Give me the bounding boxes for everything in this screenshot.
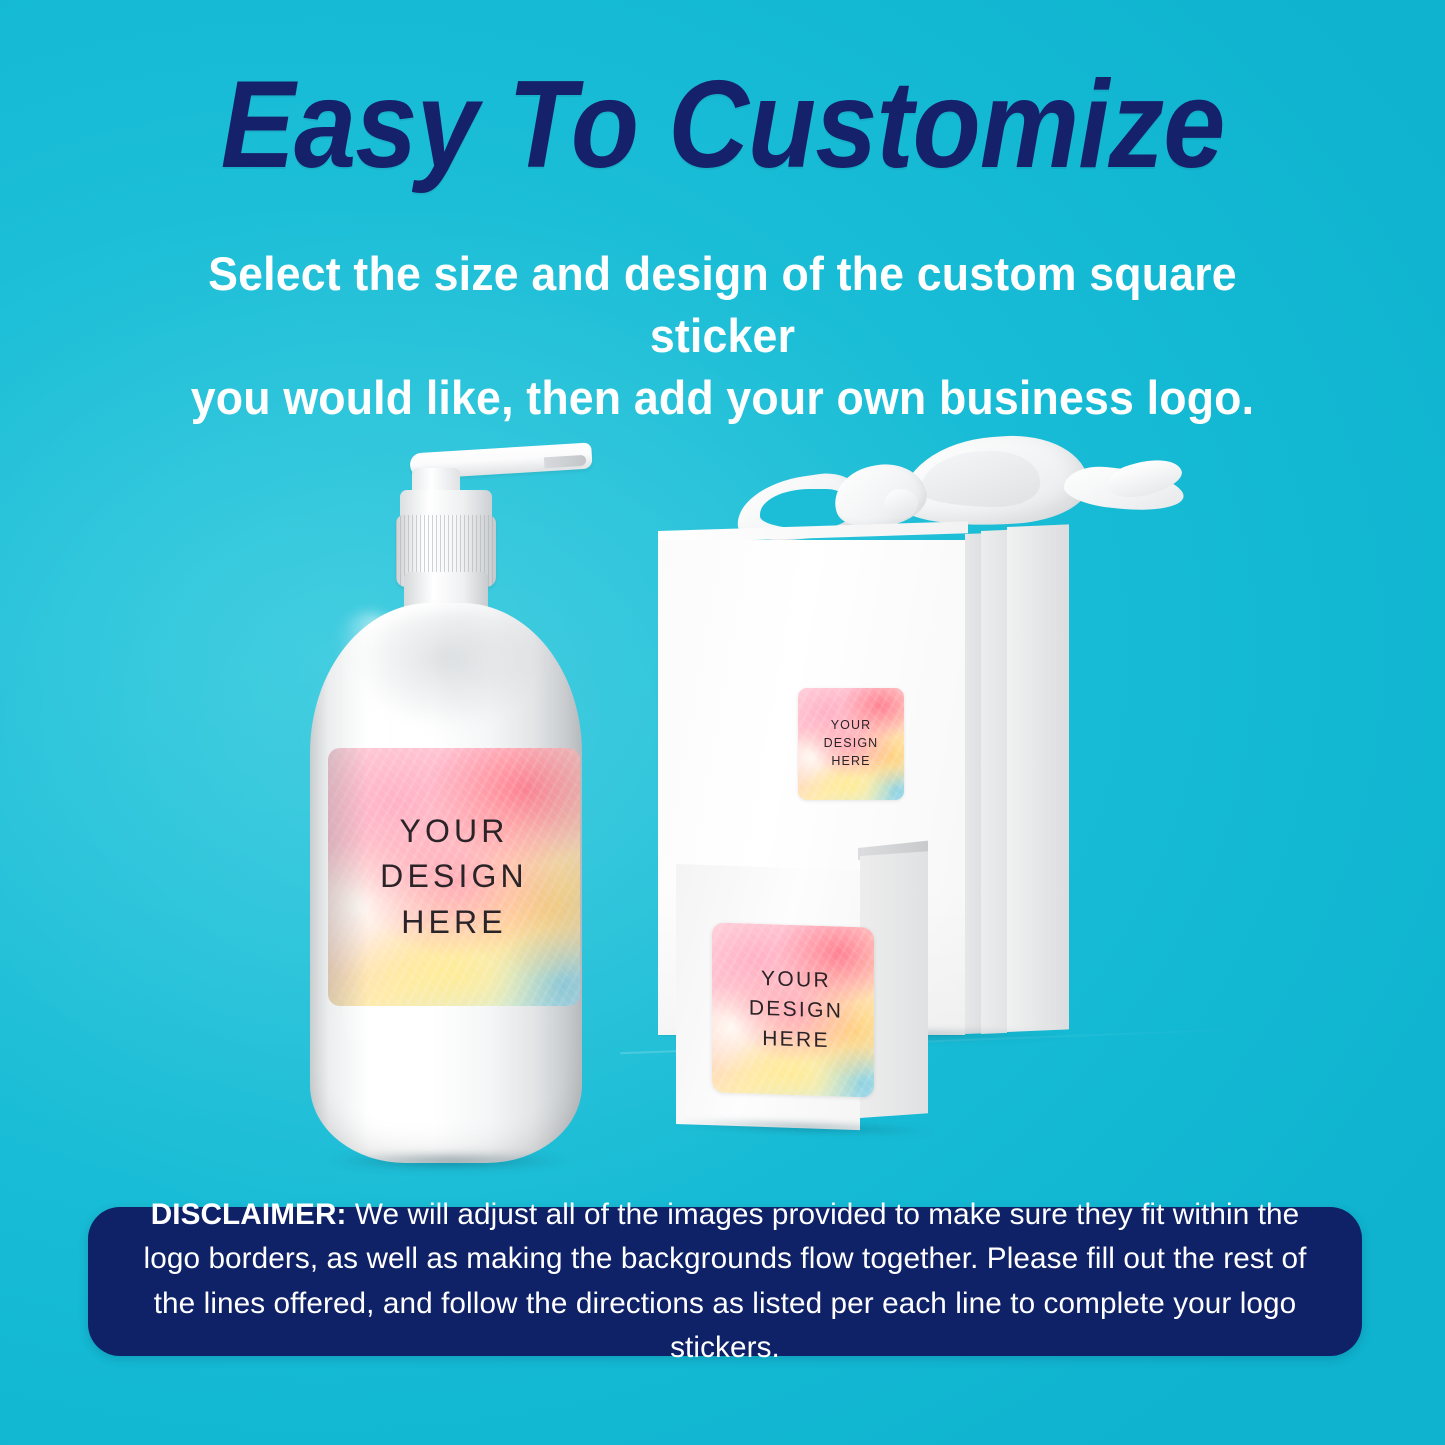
bottle-shadow: [326, 1152, 570, 1170]
page-title: Easy To Customize: [72, 62, 1373, 188]
sticker-line-1: YOUR: [831, 717, 872, 735]
sticker-line-1: YOUR: [761, 964, 831, 996]
bottle-label-sticker: YOUR DESIGN HERE: [328, 748, 580, 1006]
bottle-shoulder-shading: [352, 610, 542, 730]
promo-graphic: Easy To Customize Select the size and de…: [0, 0, 1445, 1445]
gift-box-side-panel: [1007, 524, 1069, 1032]
sticker-text-block: YOUR DESIGN HERE: [798, 688, 904, 800]
sticker-line-2: DESIGN: [824, 735, 879, 753]
small-box-sticker: YOUR DESIGN HERE: [712, 922, 874, 1097]
sticker-text-block: YOUR DESIGN HERE: [712, 922, 874, 1097]
sticker-line-3: HERE: [401, 900, 507, 945]
gift-box-side-inner: [981, 530, 1007, 1034]
disclaimer-label: DISCLAIMER:: [151, 1198, 347, 1231]
sticker-text-block: YOUR DESIGN HERE: [328, 748, 580, 1006]
disclaimer-text: DISCLAIMER: We will adjust all of the im…: [94, 1193, 1355, 1369]
subtitle-line-1: Select the size and design of the custom…: [141, 243, 1305, 367]
sticker-line-1: YOUR: [399, 809, 508, 854]
sticker-line-2: DESIGN: [380, 854, 528, 899]
gift-box-sticker: YOUR DESIGN HERE: [798, 688, 904, 800]
sticker-line-3: HERE: [831, 753, 870, 771]
gift-box-edge: [965, 533, 981, 1034]
disclaimer-banner: DISCLAIMER: We will adjust all of the im…: [88, 1207, 1362, 1356]
sticker-line-3: HERE: [762, 1024, 830, 1056]
sticker-line-2: DESIGN: [749, 994, 843, 1027]
